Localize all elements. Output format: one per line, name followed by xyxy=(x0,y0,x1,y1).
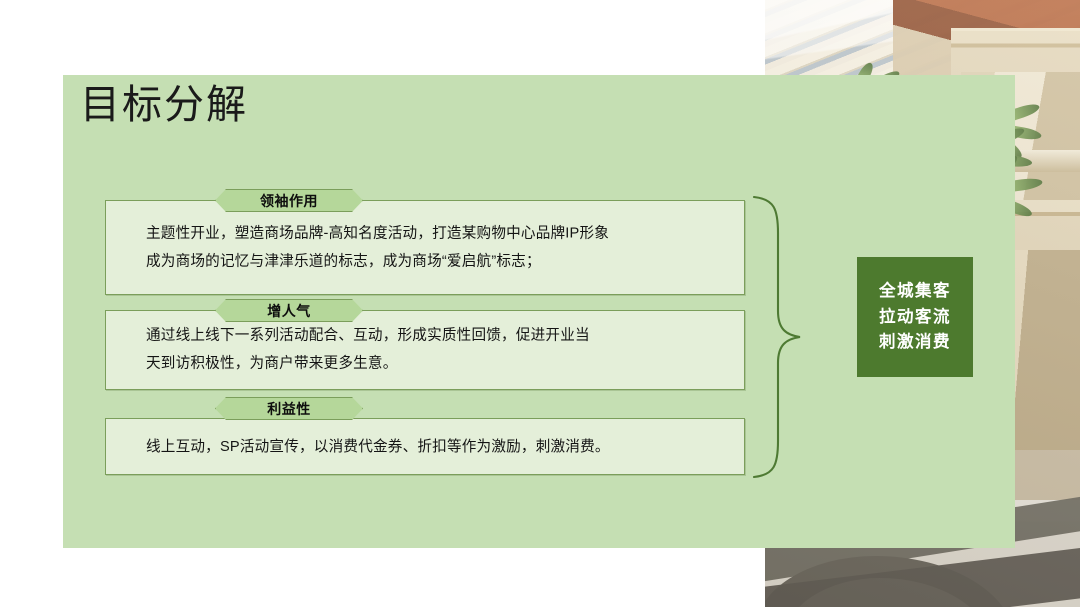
summary-line-3: 刺激消费 xyxy=(879,333,951,352)
section-banner-label-1: 领袖作用 xyxy=(260,194,318,208)
curly-brace-right-icon xyxy=(748,193,820,481)
section-banner-3: 利益性 xyxy=(215,397,363,420)
section-box-2: 通过线上线下一系列活动配合、互动，形成实质性回馈，促进开业当 天到访积极性，为商… xyxy=(105,310,745,390)
summary-line-2: 拉动客流 xyxy=(879,308,951,327)
slide-canvas: 目标分解 主题性开业，塑造商场品牌-高知名度活动，打造某购物中心品牌IP形象 成… xyxy=(0,0,1080,607)
section-box-3: 线上互动，SP活动宣传，以消费代金券、折扣等作为激励，刺激消费。 xyxy=(105,418,745,475)
section-text-2: 通过线上线下一系列活动配合、互动，形成实质性回馈，促进开业当 天到访积极性，为商… xyxy=(146,322,722,379)
summary-line-1: 全城集客 xyxy=(879,282,951,301)
section-banner-label-3: 利益性 xyxy=(267,402,311,416)
summary-box: 全城集客 拉动客流 刺激消费 xyxy=(857,257,973,377)
section-box-1: 主题性开业，塑造商场品牌-高知名度活动，打造某购物中心品牌IP形象 成为商场的记… xyxy=(105,200,745,295)
section-text-1: 主题性开业，塑造商场品牌-高知名度活动，打造某购物中心品牌IP形象 成为商场的记… xyxy=(146,219,722,276)
section-text-3: 线上互动，SP活动宣传，以消费代金券、折扣等作为激励，刺激消费。 xyxy=(146,432,722,460)
section-banner-2: 增人气 xyxy=(215,299,363,322)
page-title: 目标分解 xyxy=(80,80,248,130)
section-banner-1: 领袖作用 xyxy=(215,189,363,212)
section-banner-label-2: 增人气 xyxy=(267,304,311,318)
